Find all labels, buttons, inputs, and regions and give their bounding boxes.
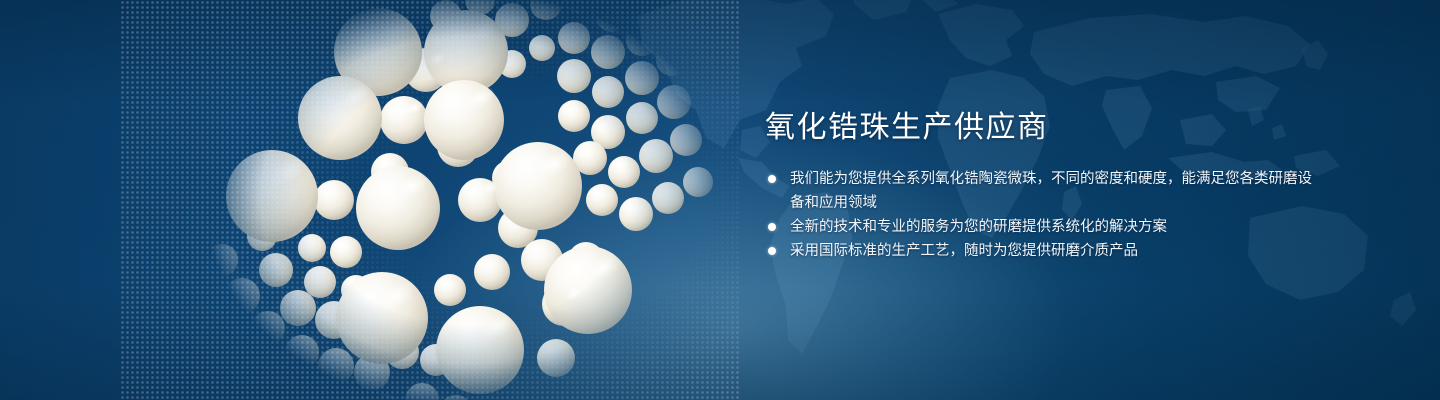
bullet-dot-icon xyxy=(768,247,776,255)
list-item-label: 采用国际标准的生产工艺，随时为您提供研磨介质产品 xyxy=(790,243,1138,259)
banner-text-block: 氧化锆珠生产供应商 我们能为您提供全系列氧化锆陶瓷微珠，不同的密度和硬度，能满足… xyxy=(765,108,1325,263)
list-item-label: 我们能为您提供全系列氧化锆陶瓷微珠，不同的密度和硬度，能满足您各类研磨设备和应用… xyxy=(790,171,1312,211)
list-item: 我们能为您提供全系列氧化锆陶瓷微珠，不同的密度和硬度，能满足您各类研磨设备和应用… xyxy=(765,167,1325,215)
zirconia-beads-photo-icon xyxy=(150,0,770,400)
list-item-label: 全新的技术和专业的服务为您的研磨提供系统化的解决方案 xyxy=(790,219,1167,235)
page-title: 氧化锆珠生产供应商 xyxy=(765,108,1325,148)
list-item: 采用国际标准的生产工艺，随时为您提供研磨介质产品 xyxy=(765,239,1325,263)
hero-banner: 氧化锆珠生产供应商 我们能为您提供全系列氧化锆陶瓷微珠，不同的密度和硬度，能满足… xyxy=(0,0,1440,400)
bullet-dot-icon xyxy=(768,223,776,231)
bullet-dot-icon xyxy=(768,175,776,183)
list-item: 全新的技术和专业的服务为您的研磨提供系统化的解决方案 xyxy=(765,215,1325,239)
feature-bullet-list: 我们能为您提供全系列氧化锆陶瓷微珠，不同的密度和硬度，能满足您各类研磨设备和应用… xyxy=(765,167,1325,263)
